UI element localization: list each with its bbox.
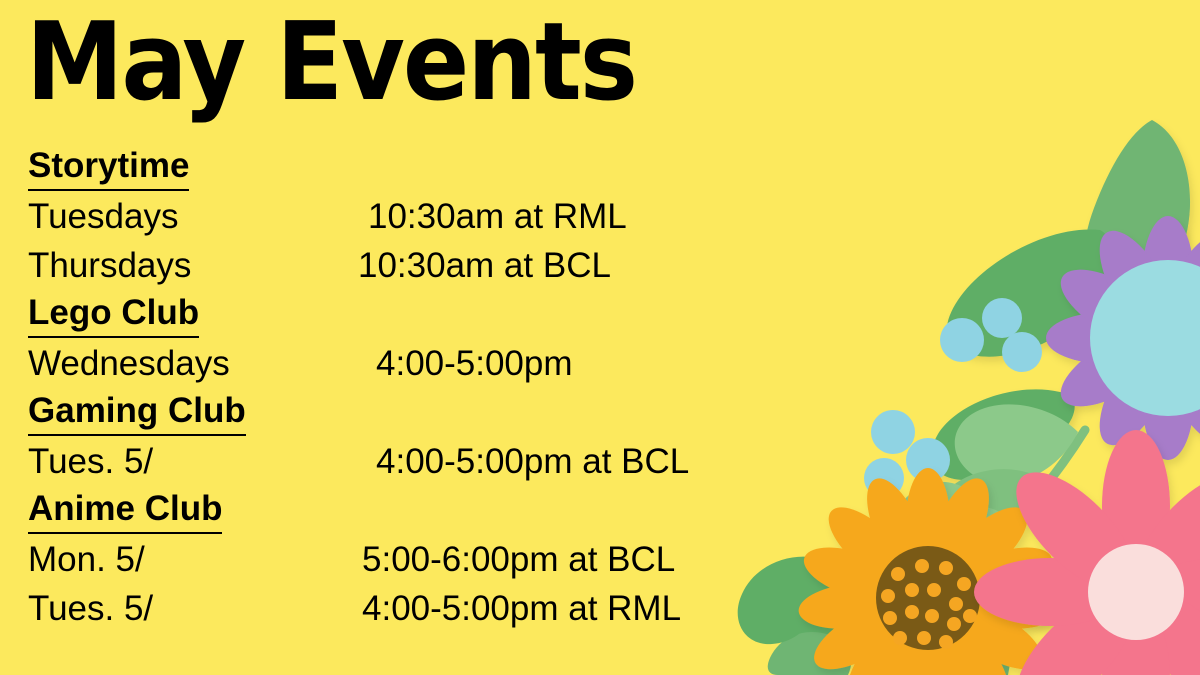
section-heading-gaming-club: Gaming Club	[28, 388, 246, 436]
event-time: 10:30am at RML	[368, 192, 828, 241]
section-heading-storytime: Storytime	[28, 143, 189, 191]
event-section-anime-club: Anime Club Mon. 5/ 5:00-6:00pm at BCL Tu…	[28, 486, 828, 633]
page-title: May Events	[26, 6, 636, 119]
event-time: 10:30am at BCL	[358, 241, 828, 290]
section-heading-anime-club: Anime Club	[28, 486, 222, 534]
event-section-gaming-club: Gaming Club Tues. 5/ 4:00-5:00pm at BCL	[28, 388, 828, 486]
event-row: Tuesdays 10:30am at RML	[28, 192, 828, 241]
event-time: 5:00-6:00pm at BCL	[362, 535, 828, 584]
event-day: Thursdays	[28, 241, 358, 290]
event-row: Tues. 5/ 4:00-5:00pm at RML	[28, 584, 828, 633]
event-time: 4:00-5:00pm	[376, 339, 828, 388]
event-day: Tues. 5/	[28, 584, 362, 633]
event-section-storytime: Storytime Tuesdays 10:30am at RML Thursd…	[28, 143, 828, 290]
may-events-poster: May Events Storytime Tuesdays 10:30am at…	[0, 0, 1200, 675]
section-heading-lego-club: Lego Club	[28, 290, 199, 338]
event-row: Thursdays 10:30am at BCL	[28, 241, 828, 290]
events-schedule: Storytime Tuesdays 10:30am at RML Thursd…	[28, 143, 828, 633]
event-day: Tuesdays	[28, 192, 368, 241]
event-section-lego-club: Lego Club Wednesdays 4:00-5:00pm	[28, 290, 828, 388]
event-day: Tues. 5/	[28, 437, 376, 486]
event-day: Wednesdays	[28, 339, 376, 388]
event-row: Wednesdays 4:00-5:00pm	[28, 339, 828, 388]
event-time: 4:00-5:00pm at RML	[362, 584, 828, 633]
event-time: 4:00-5:00pm at BCL	[376, 437, 828, 486]
event-row: Mon. 5/ 5:00-6:00pm at BCL	[28, 535, 828, 584]
event-day: Mon. 5/	[28, 535, 362, 584]
event-row: Tues. 5/ 4:00-5:00pm at BCL	[28, 437, 828, 486]
